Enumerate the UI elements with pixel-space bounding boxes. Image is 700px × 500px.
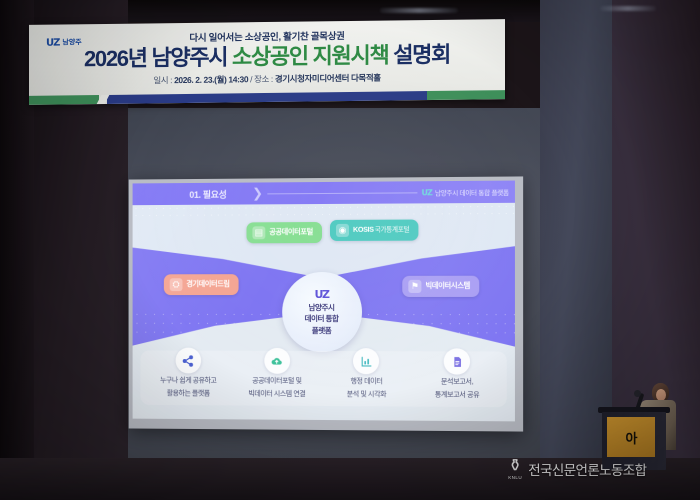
microphone-head (634, 390, 641, 397)
feature-card: 누구나 쉽게 공유하고 활용하는 플랫폼 (144, 353, 232, 399)
feature-label-line2: 활용하는 플랫폼 (167, 389, 210, 399)
pill-label: 경기데이터드림 (186, 280, 229, 288)
banner-date-value: 2026. 2. 23.(월) 14:30 (174, 74, 248, 85)
podium-plate-glyph: 아 (626, 428, 637, 447)
right-wall-panel (540, 0, 612, 460)
pill-sublabel-wrap: 국가통계포털 (375, 226, 410, 234)
knlu-abbrev: KNLU (508, 476, 522, 481)
chevron-right-icon: ❯ (252, 185, 263, 201)
pill-label: KOSIS (353, 226, 374, 234)
feature-label-line2: 빅데이터 시스템 연결 (248, 389, 305, 399)
watermark-text: 전국신문언론노동조합 (528, 459, 646, 479)
banner-title-part2: 소상공인 지원시책 (232, 43, 388, 70)
banner-meta-separator: / (250, 74, 252, 84)
presentation-slide: 01. 필요성 ❯ UZ 남양주시 데이터 통합 플랫폼 ▤ 공공데이터포털 (133, 181, 515, 422)
podium-plate: 아 (607, 417, 655, 457)
knlu-glyph: ⚱ (508, 458, 522, 475)
feature-label-line2: 통계보고서 공유 (435, 390, 479, 400)
center-platform-hub: UZ 남양주시 데이터 통합 플랫폼 (282, 272, 362, 352)
slide-body: ▤ 공공데이터포털 ◉ KOSIS 국가통계포털 ⛭ 경기데이터드림 ⚑ 빅데 (133, 203, 515, 422)
namyangju-logo-icon: UZ (421, 188, 431, 197)
pill-bigdata-system: ⚑ 빅데이터시스템 (402, 276, 479, 297)
feature-card: 분석보고서, 통계보고서 공유 (412, 353, 503, 400)
banner-date-label: 일시 : (153, 75, 172, 85)
pill-public-data-portal: ▤ 공공데이터포털 (246, 222, 321, 243)
namyangju-logo-icon: UZ (46, 37, 59, 48)
pill-kosis: ◉ KOSIS 국가통계포털 (330, 220, 418, 241)
banner-meta: 일시 : 2026. 2. 23.(월) 14:30 / 장소 : 경기시청자미… (29, 70, 505, 88)
header-divider (267, 192, 417, 194)
banner-logo-label: 남양주 (62, 37, 81, 47)
bar-chart-icon (353, 348, 379, 374)
feature-label-line1: 행정 데이터 (351, 377, 383, 387)
watermark: ⚱ KNLU 전국신문언론노동조합 (508, 458, 646, 481)
cloud-upload-icon (264, 348, 290, 374)
center-label-line3: 플랫폼 (312, 325, 331, 335)
center-label-line1: 남양주시 (309, 303, 335, 313)
slide-header: 01. 필요성 ❯ UZ 남양주시 데이터 통합 플랫폼 (133, 181, 515, 206)
presentation-photo: UZ 남양주 다시 일어서는 소상공인, 활기찬 골목상권 2026년 남양주시… (0, 0, 700, 500)
feature-card: 공공데이터포털 및 빅데이터 시스템 연결 (232, 353, 321, 399)
upper-band (133, 203, 515, 278)
projection-screen: 01. 필요성 ❯ UZ 남양주시 데이터 통합 플랫폼 ▤ 공공데이터포털 (129, 176, 523, 431)
pill-gyeonggi-data-dream: ⛭ 경기데이터드림 (164, 274, 239, 295)
banner-stripe-decoration (29, 90, 505, 105)
feature-label-line1: 공공데이터포털 및 (252, 377, 302, 387)
flag-icon: ⚑ (408, 280, 421, 293)
location-pin-icon: ◉ (336, 224, 349, 237)
network-icon: ⛭ (170, 278, 183, 291)
feature-card-row: 누구나 쉽게 공유하고 활용하는 플랫폼 공공데이터포털 및 빅데이터 시스템 … (140, 351, 506, 408)
dot-pattern (133, 203, 515, 221)
ceiling-light-icon (380, 8, 458, 13)
slide-brand-label: 남양주시 데이터 통합 플랫폼 (435, 187, 509, 198)
slide-step-label: 01. 필요성 (189, 187, 226, 200)
namyangju-logo-icon: UZ (315, 288, 329, 301)
share-icon (175, 348, 201, 374)
database-icon: ▤ (252, 226, 265, 239)
ceiling-light-icon (600, 6, 656, 11)
slide-brand: UZ 남양주시 데이터 통합 플랫폼 (421, 187, 508, 198)
feature-label-line1: 누구나 쉽게 공유하고 (160, 376, 216, 386)
pill-label: 공공데이터포털 (269, 228, 313, 236)
feature-label-line2: 분석 및 시각화 (347, 390, 386, 400)
document-icon (444, 348, 470, 374)
banner-title-part3: 설명회 (393, 42, 450, 68)
feature-label-line1: 분석보고서, (441, 378, 473, 388)
center-label-line2: 데이터 통합 (305, 314, 339, 324)
feature-card: 행정 데이터 분석 및 시각화 (322, 353, 412, 399)
pill-label: 빅데이터시스템 (425, 282, 469, 290)
event-banner: UZ 남양주 다시 일어서는 소상공인, 활기찬 골목상권 2026년 남양주시… (29, 19, 505, 105)
knlu-logo-icon: ⚱ KNLU (508, 458, 522, 481)
banner-logo: UZ 남양주 (46, 32, 124, 53)
pill-sublabel: 국가통계포털 (375, 226, 410, 234)
banner-place-label: 장소 : (254, 74, 273, 84)
banner-place-value: 경기시청자미디어센터 다목적홀 (275, 73, 381, 84)
